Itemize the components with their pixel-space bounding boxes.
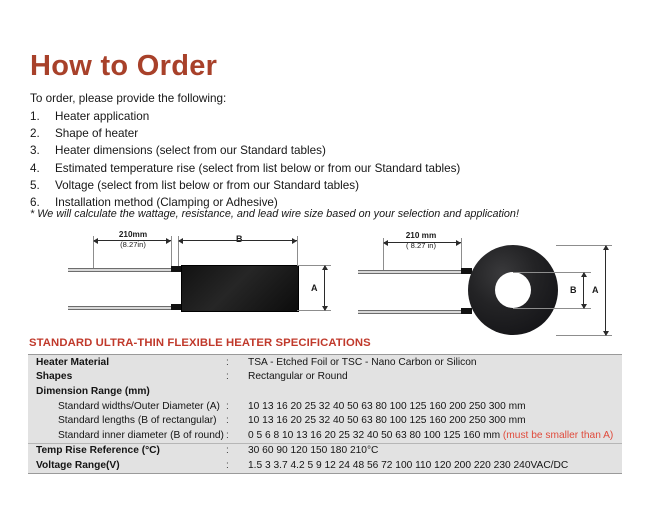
spec-value: 1.5 3 3.7 4.2 5 9 12 24 48 56 72 100 110… bbox=[248, 460, 622, 471]
spec-label: Standard inner diameter (B of round) bbox=[28, 430, 226, 441]
table-row: Standard inner diameter (B of round) : 0… bbox=[28, 428, 622, 443]
spec-table: Heater Material : TSA - Etched Foil or T… bbox=[28, 354, 622, 474]
round-b-arrow-up bbox=[581, 272, 587, 277]
rect-height-label-a: A bbox=[311, 283, 318, 293]
step-text: Shape of heater bbox=[55, 127, 138, 140]
step-number: 3. bbox=[30, 144, 55, 157]
step-text: Estimated temperature rise (select from … bbox=[55, 162, 460, 175]
round-ext-line-right bbox=[461, 238, 462, 270]
spec-value: Rectangular or Round bbox=[248, 371, 622, 382]
spec-colon: : bbox=[226, 445, 248, 456]
step-text: Installation method (Clamping or Adhesiv… bbox=[55, 196, 278, 209]
rect-lead-wire-top bbox=[68, 268, 181, 272]
calculation-note: * We will calculate the wattage, resista… bbox=[30, 208, 519, 220]
table-row: Standard widths/Outer Diameter (A) : 10 … bbox=[28, 399, 622, 414]
spec-colon: : bbox=[226, 460, 248, 471]
table-row: Temp Rise Reference (°C) : 30 60 90 120 … bbox=[28, 444, 622, 459]
rect-lead-arrow-right bbox=[166, 238, 171, 244]
spec-value-warning: (must be smaller than A) bbox=[503, 430, 613, 441]
table-row: Voltage Range(V) : 1.5 3 3.7 4.2 5 9 12 … bbox=[28, 458, 622, 473]
list-item: 3. Heater dimensions (select from our St… bbox=[30, 144, 630, 161]
spec-label: Dimension Range (mm) bbox=[28, 386, 226, 397]
order-steps-list: 1. Heater application 2. Shape of heater… bbox=[30, 110, 630, 213]
rect-b-arrow-line bbox=[179, 240, 297, 241]
round-lead-arrow-left bbox=[383, 240, 388, 246]
rect-lead-arrow-left bbox=[93, 238, 98, 244]
intro-text: To order, please provide the following: bbox=[30, 93, 226, 105]
list-item: 1. Heater application bbox=[30, 110, 630, 127]
step-text: Heater dimensions (select from our Stand… bbox=[55, 144, 326, 157]
rect-a-arrow-down bbox=[322, 306, 328, 311]
round-b-arrow-line bbox=[583, 273, 584, 308]
round-lead-wire-bottom bbox=[358, 310, 471, 314]
spec-colon: : bbox=[226, 401, 248, 412]
round-a-arrow-up bbox=[603, 245, 609, 250]
rect-ext-line-right bbox=[171, 236, 172, 268]
rect-width-label-b: B bbox=[236, 234, 243, 244]
rect-lead-arrow-line bbox=[94, 240, 171, 241]
order-page: How to Order To order, please provide th… bbox=[0, 0, 650, 523]
round-outer-label-a: A bbox=[592, 285, 599, 295]
table-row: Dimension Range (mm) bbox=[28, 384, 622, 399]
list-item: 4. Estimated temperature rise (select fr… bbox=[30, 162, 630, 179]
step-number: 5. bbox=[30, 179, 55, 192]
round-heater-inner-hole bbox=[495, 272, 531, 308]
round-lead-arrow-line bbox=[384, 242, 461, 243]
step-number: 4. bbox=[30, 162, 55, 175]
table-row: Shapes : Rectangular or Round bbox=[28, 370, 622, 385]
rect-b-arrow-right bbox=[292, 238, 297, 244]
rect-lead-wire-bottom bbox=[68, 306, 181, 310]
spec-label: Standard widths/Outer Diameter (A) bbox=[28, 401, 226, 412]
spec-colon: : bbox=[226, 415, 248, 426]
round-lead-dimension-label: 210 mm ( 8.27 in) bbox=[383, 231, 459, 250]
spec-value: 30 60 90 120 150 180 210°C bbox=[248, 445, 622, 456]
spec-value-wrap: 0 5 6 8 10 13 16 20 25 32 40 50 63 80 10… bbox=[248, 430, 622, 441]
round-crimp-bottom bbox=[461, 308, 472, 314]
spec-value: 10 13 16 20 25 32 40 50 63 80 100 125 16… bbox=[248, 401, 622, 412]
step-number: 1. bbox=[30, 110, 55, 123]
step-number: 2. bbox=[30, 127, 55, 140]
spec-label: Standard lengths (B of rectangular) bbox=[28, 415, 226, 426]
rect-a-arrow-line bbox=[324, 266, 325, 310]
list-item: 5. Voltage (select from list below or fr… bbox=[30, 179, 630, 196]
round-b-ext-top bbox=[513, 272, 591, 273]
spec-colon: : bbox=[226, 430, 248, 441]
step-text: Voltage (select from list below or from … bbox=[55, 179, 359, 192]
round-lead-length-mm: 210 mm bbox=[406, 231, 437, 240]
table-row: Standard lengths (B of rectangular) : 10… bbox=[28, 413, 622, 428]
round-a-arrow-down bbox=[603, 331, 609, 336]
spec-label: Voltage Range(V) bbox=[28, 460, 226, 471]
list-item: 2. Shape of heater bbox=[30, 127, 630, 144]
rect-lead-length-mm: 210mm bbox=[119, 230, 147, 239]
table-row: Heater Material : TSA - Etched Foil or T… bbox=[28, 355, 622, 370]
spec-table-heading: STANDARD ULTRA-THIN FLEXIBLE HEATER SPEC… bbox=[29, 337, 371, 349]
heater-diagrams: 210mm (8.27in) B bbox=[0, 228, 650, 340]
spec-value: 0 5 6 8 10 13 16 20 25 32 40 50 63 80 10… bbox=[248, 430, 503, 441]
rect-b-arrow-left bbox=[178, 238, 183, 244]
page-title: How to Order bbox=[30, 52, 217, 81]
round-lead-wire-top bbox=[358, 270, 471, 274]
round-a-arrow-line bbox=[605, 246, 606, 335]
rect-heater-body bbox=[181, 265, 299, 312]
round-lead-arrow-right bbox=[456, 240, 461, 246]
round-b-ext-bottom bbox=[513, 308, 591, 309]
step-number: 6. bbox=[30, 196, 55, 209]
spec-colon: : bbox=[226, 371, 248, 382]
round-inner-label-b: B bbox=[570, 285, 577, 295]
spec-value: 10 13 16 20 25 32 40 50 63 80 100 125 16… bbox=[248, 415, 622, 426]
spec-label: Heater Material bbox=[28, 357, 226, 368]
round-b-arrow-down bbox=[581, 304, 587, 309]
spec-colon: : bbox=[226, 357, 248, 368]
spec-label: Shapes bbox=[28, 371, 226, 382]
rect-a-arrow-up bbox=[322, 265, 328, 270]
step-text: Heater application bbox=[55, 110, 149, 123]
spec-value: TSA - Etched Foil or TSC - Nano Carbon o… bbox=[248, 357, 622, 368]
spec-label: Temp Rise Reference (°C) bbox=[28, 445, 226, 456]
rect-b-ext-right bbox=[297, 236, 298, 268]
